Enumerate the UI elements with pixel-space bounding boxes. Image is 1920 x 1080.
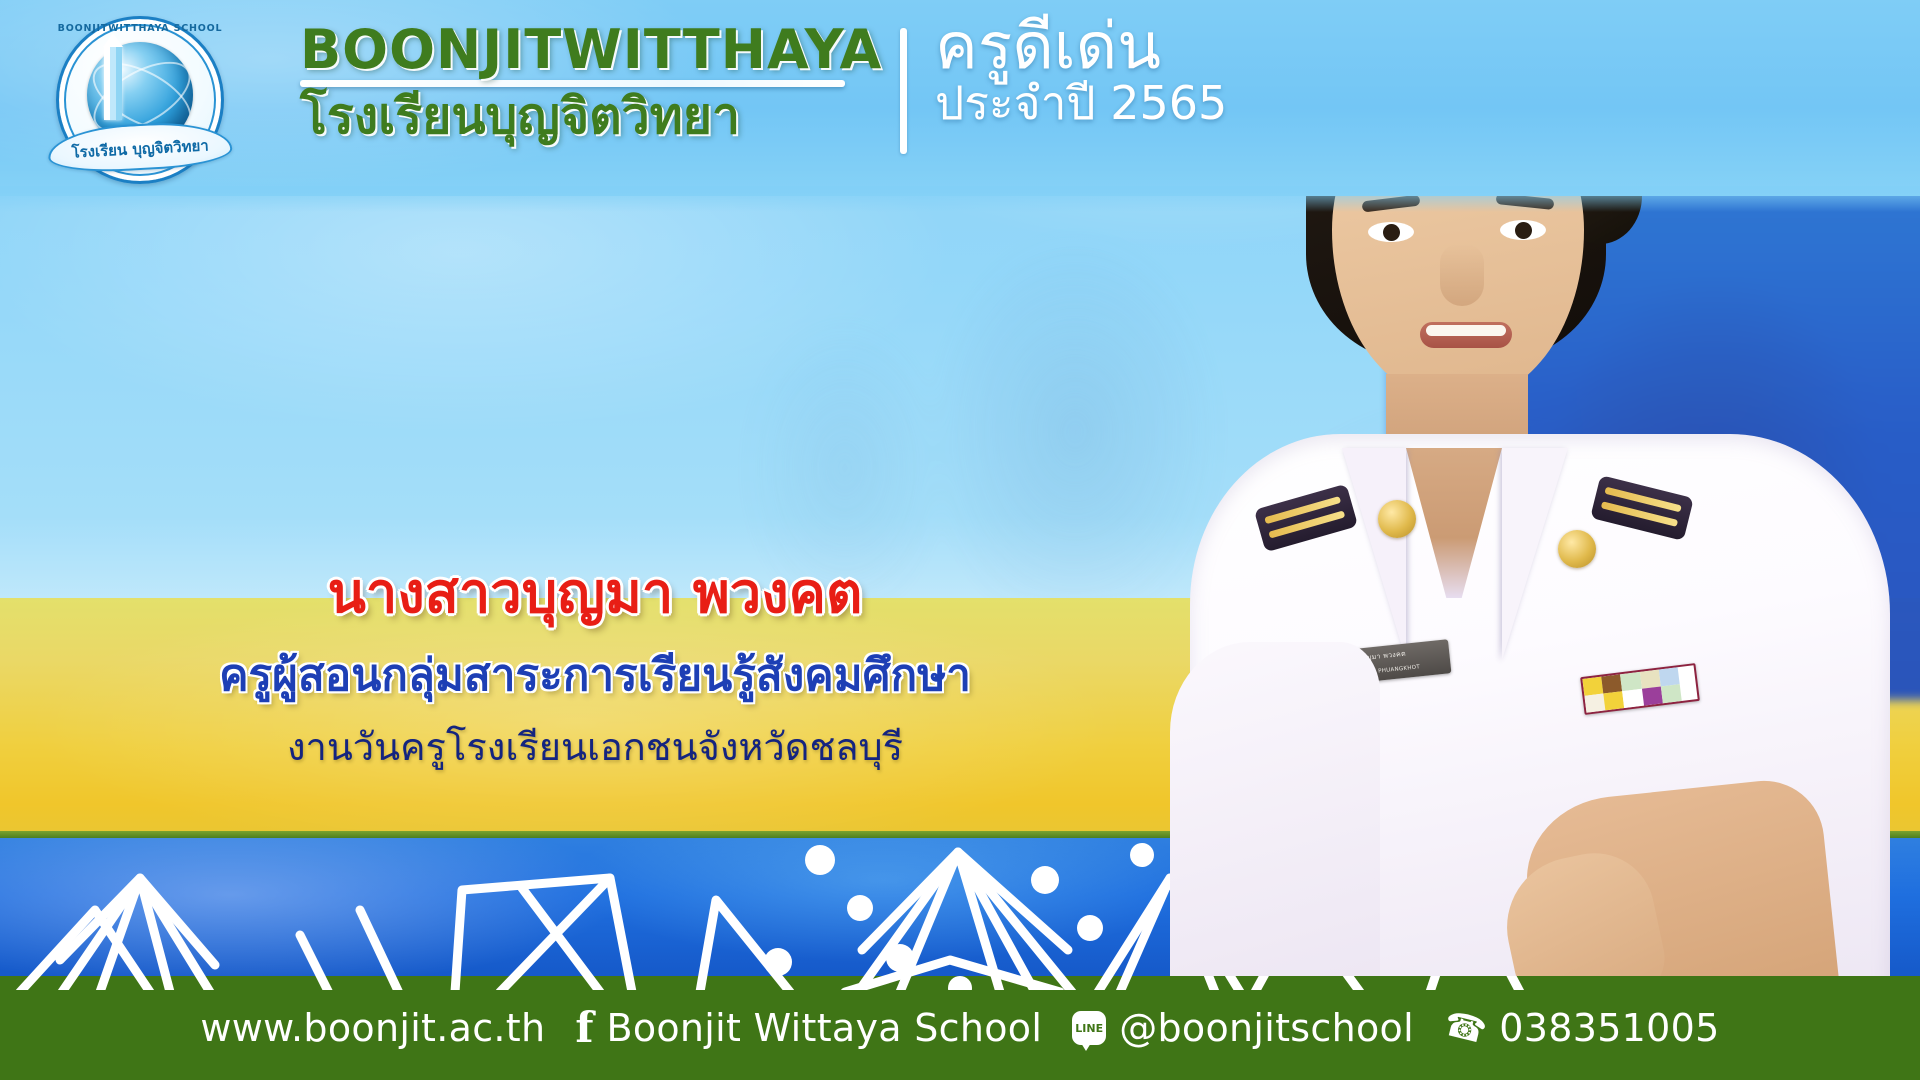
eye-left — [1368, 222, 1414, 242]
contact-footer: www.boonjit.ac.th f Boonjit Wittaya Scho… — [0, 976, 1920, 1080]
award-title: ครูดีเด่น — [935, 14, 1227, 82]
nose — [1440, 244, 1484, 306]
website-text: www.boonjit.ac.th — [200, 1006, 545, 1050]
pencil-icon — [104, 46, 122, 120]
school-logo: BOONJITWITTHAYA SCHOOL โรงเรียน บุญจิตวิ… — [56, 16, 224, 184]
line-id-text: @boonjitschool — [1119, 1006, 1414, 1050]
honoree-name: นางสาวบุญมา พวงคต — [0, 548, 1190, 637]
footer-facebook[interactable]: f Boonjit Wittaya School — [575, 1006, 1042, 1050]
facebook-icon: f — [575, 1007, 593, 1049]
logo-banner-text: โรงเรียน บุญจิตวิทยา — [50, 132, 231, 165]
award-title-block: ครูดีเด่น ประจำปี 2565 — [935, 14, 1227, 128]
facebook-text: Boonjit Wittaya School — [606, 1006, 1042, 1050]
uniform-sleeve — [1170, 642, 1380, 976]
honoree-role: ครูผู้สอนกลุ่มสาระการเรียนรู้สังคมศึกษา — [0, 640, 1190, 710]
gold-insignia-right — [1558, 530, 1596, 568]
pupil-left — [1383, 224, 1400, 241]
award-year: ประจำปี 2565 — [935, 78, 1227, 129]
mouth — [1420, 322, 1512, 348]
footer-line[interactable]: LINE @boonjitschool — [1072, 1006, 1414, 1050]
school-name-thai: โรงเรียนบุญจิตวิทยา — [300, 88, 882, 144]
pupil-right — [1515, 222, 1532, 239]
award-banner: บุญมา พวงคต BOONMA PHUANGKHOT BOONJITWIT… — [0, 0, 1920, 1080]
header-vertical-divider — [900, 28, 907, 154]
footer-phone[interactable]: ☎ 038351005 — [1444, 1006, 1720, 1050]
logo-arc-text: BOONJITWITTHAYA SCHOOL — [56, 23, 224, 34]
gold-insignia-left — [1378, 500, 1416, 538]
event-name: งานวันครูโรงเรียนเอกชนจังหวัดชลบุรี — [0, 716, 1190, 777]
uniform-lapel-left — [1342, 448, 1406, 660]
teeth — [1426, 325, 1506, 336]
line-icon: LINE — [1072, 1011, 1106, 1045]
school-name-english: BOONJITWITTHAYA — [300, 22, 882, 77]
header-fade — [0, 186, 1920, 212]
phone-icon: ☎ — [1440, 1003, 1491, 1052]
eye-right — [1500, 220, 1546, 240]
phone-text: 038351005 — [1499, 1006, 1719, 1050]
footer-website[interactable]: www.boonjit.ac.th — [200, 1006, 545, 1050]
school-title-block: BOONJITWITTHAYA โรงเรียนบุญจิตวิทยา — [300, 22, 882, 144]
